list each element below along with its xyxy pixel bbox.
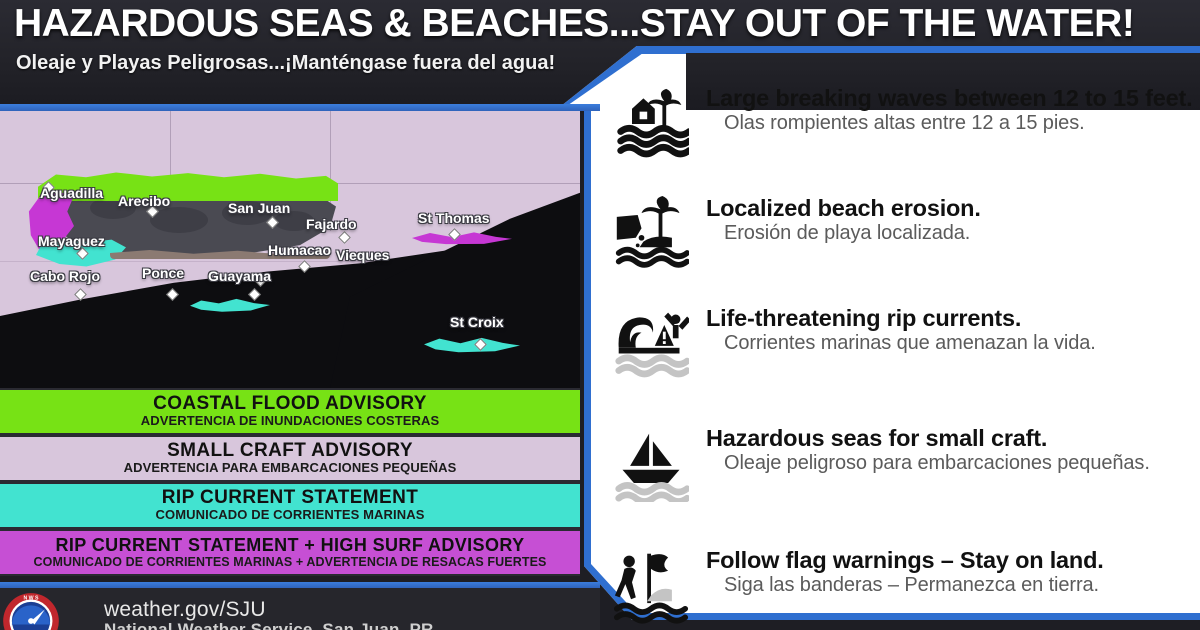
- legend-label-english: RIP CURRENT STATEMENT: [162, 488, 418, 509]
- map-city-label: Vieques: [336, 247, 389, 263]
- hazard-item: Hazardous seas for small craft.Oleaje pe…: [596, 426, 1200, 502]
- hazard-item: Follow flag warnings – Stay on land.Siga…: [596, 548, 1200, 624]
- rip-current-swimmer-warning-icon: [596, 306, 706, 382]
- footer-organization: National Weather Service, San Juan, PR: [104, 620, 433, 630]
- hazard-item-text: Life-threatening rip currents.Corrientes…: [706, 306, 1200, 355]
- hazard-text-spanish: Siga las banderas – Permanezca en tierra…: [706, 574, 1196, 597]
- footer-url[interactable]: weather.gov/SJU: [104, 598, 266, 622]
- legend-label-spanish: ADVERTENCIA PARA EMBARCACIONES PEQUEÑAS: [124, 461, 457, 476]
- map-city-label: San Juan: [228, 200, 290, 216]
- hazard-item: Life-threatening rip currents.Corrientes…: [596, 306, 1200, 382]
- legend-label-spanish: COMUNICADO DE CORRIENTES MARINAS + ADVER…: [34, 555, 547, 569]
- map-city-label: Humacao: [268, 242, 331, 258]
- hazard-list: Large breaking waves between 12 to 15 fe…: [596, 78, 1200, 598]
- sailboat-icon: [596, 426, 706, 502]
- hazard-text-english: Localized beach erosion.: [706, 196, 1196, 222]
- footer-blue-rule: [0, 582, 600, 588]
- map-city-label: Aguadilla: [40, 185, 103, 201]
- legend-bar[interactable]: RIP CURRENT STATEMENTCOMUNICADO DE CORRI…: [0, 482, 580, 529]
- beach-erosion-palm-icon: [596, 196, 706, 272]
- map-city-label: Arecibo: [118, 193, 170, 209]
- hazard-item-text: Follow flag warnings – Stay on land.Siga…: [706, 548, 1200, 597]
- hazard-text-english: Follow flag warnings – Stay on land.: [706, 548, 1196, 574]
- warning-flag-person-icon: [596, 548, 706, 624]
- nws-seal-icon: N W S: [2, 592, 60, 630]
- legend-bar[interactable]: COASTAL FLOOD ADVISORYADVERTENCIA DE INU…: [0, 388, 580, 435]
- advisory-legend: COASTAL FLOOD ADVISORYADVERTENCIA DE INU…: [0, 388, 580, 576]
- hazard-item-text: Large breaking waves between 12 to 15 fe…: [706, 86, 1200, 135]
- page-subtitle-spanish: Oleaje y Playas Peligrosas...¡Manténgase…: [16, 52, 576, 74]
- legend-label-spanish: ADVERTENCIA DE INUNDACIONES COSTERAS: [141, 414, 440, 429]
- hazard-text-spanish: Olas rompientes altas entre 12 a 15 pies…: [706, 112, 1196, 135]
- legend-bar[interactable]: RIP CURRENT STATEMENT + HIGH SURF ADVISO…: [0, 529, 580, 576]
- hazard-text-spanish: Erosión de playa localizada.: [706, 222, 1196, 245]
- hazard-item-text: Hazardous seas for small craft.Oleaje pe…: [706, 426, 1200, 475]
- hazard-text-spanish: Oleaje peligroso para embarcaciones pequ…: [706, 452, 1196, 475]
- header-blue-rule: [0, 104, 600, 111]
- legend-label-english: RIP CURRENT STATEMENT + HIGH SURF ADVISO…: [56, 536, 525, 555]
- map-city-label: St Croix: [450, 314, 504, 330]
- hazard-text-english: Hazardous seas for small craft.: [706, 426, 1196, 452]
- legend-label-spanish: COMUNICADO DE CORRIENTES MARINAS: [156, 508, 425, 523]
- hazard-item: Large breaking waves between 12 to 15 fe…: [596, 86, 1200, 162]
- map-city-label: Ponce: [142, 265, 184, 281]
- legend-label-english: COASTAL FLOOD ADVISORY: [153, 394, 427, 415]
- hazard-item: Localized beach erosion.Erosión de playa…: [596, 196, 1200, 272]
- infographic-root: HAZARDOUS SEAS & BEACHES...STAY OUT OF T…: [0, 0, 1200, 630]
- map-city-label: Cabo Rojo: [30, 268, 100, 284]
- map-city-label: Guayama: [208, 268, 271, 284]
- map-city-label: Fajardo: [306, 216, 357, 232]
- beach-house-waves-icon: [596, 86, 706, 162]
- legend-bar[interactable]: SMALL CRAFT ADVISORYADVERTENCIA PARA EMB…: [0, 435, 580, 482]
- hazard-text-spanish: Corrientes marinas que amenazan la vida.: [706, 332, 1196, 355]
- hazard-text-english: Life-threatening rip currents.: [706, 306, 1196, 332]
- hazard-text-english: Large breaking waves between 12 to 15 fe…: [706, 86, 1196, 112]
- svg-text:N W S: N W S: [23, 596, 39, 602]
- map-city-label: St Thomas: [418, 210, 490, 226]
- hazard-item-text: Localized beach erosion.Erosión de playa…: [706, 196, 1200, 245]
- map-city-label: Mayaguez: [38, 233, 105, 249]
- page-title: HAZARDOUS SEAS & BEACHES...STAY OUT OF T…: [14, 2, 1194, 46]
- legend-label-english: SMALL CRAFT ADVISORY: [167, 441, 413, 462]
